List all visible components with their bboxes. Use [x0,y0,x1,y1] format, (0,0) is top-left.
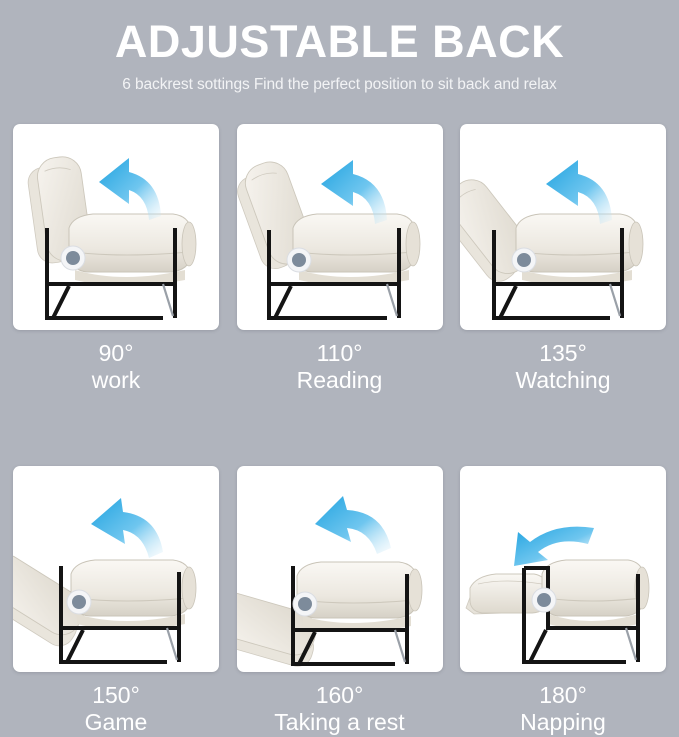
position-card-150[interactable] [13,466,219,672]
caption-name: Reading [237,367,443,394]
infographic-page: ADJUSTABLE BACK 6 backrest sottings Find… [0,0,679,679]
position-card-90[interactable] [13,124,219,330]
position-cell-135: 135° Watching [460,124,666,394]
chair-side-view-icon [237,124,443,330]
page-title: ADJUSTABLE BACK [0,18,679,65]
caption-90: 90° work [13,340,219,394]
caption-160: 160° Taking a rest [237,682,443,736]
caption-180: 180° Napping [460,682,666,736]
position-cell-150: 150° Game [13,466,219,736]
position-cell-110: 110° Reading [237,124,443,394]
caption-angle: 110° [237,340,443,367]
caption-angle: 160° [237,682,443,709]
caption-angle: 135° [460,340,666,367]
chair-side-view-icon [460,466,666,672]
position-card-180[interactable] [460,466,666,672]
header: ADJUSTABLE BACK 6 backrest sottings Find… [0,0,679,94]
position-card-160[interactable] [237,466,443,672]
caption-angle: 90° [13,340,219,367]
position-cell-180: 180° Napping [460,466,666,736]
chair-side-view-icon [237,466,443,672]
chair-side-view-icon [460,124,666,330]
caption-name: work [13,367,219,394]
grid-row-bottom: 150° Game [0,466,679,736]
caption-110: 110° Reading [237,340,443,394]
caption-name: Napping [460,709,666,736]
position-card-135[interactable] [460,124,666,330]
position-cell-160: 160° Taking a rest [237,466,443,736]
position-card-110[interactable] [237,124,443,330]
recline-positions-grid: 90° work [0,124,679,737]
caption-angle: 150° [13,682,219,709]
page-subtitle: 6 backrest sottings Find the perfect pos… [0,76,679,94]
caption-name: Game [13,709,219,736]
caption-135: 135° Watching [460,340,666,394]
grid-row-top: 90° work [0,124,679,394]
caption-angle: 180° [460,682,666,709]
caption-150: 150° Game [13,682,219,736]
caption-name: Watching [460,367,666,394]
chair-side-view-icon [13,124,219,330]
caption-name: Taking a rest [237,709,443,736]
position-cell-90: 90° work [13,124,219,394]
chair-side-view-icon [13,466,219,672]
